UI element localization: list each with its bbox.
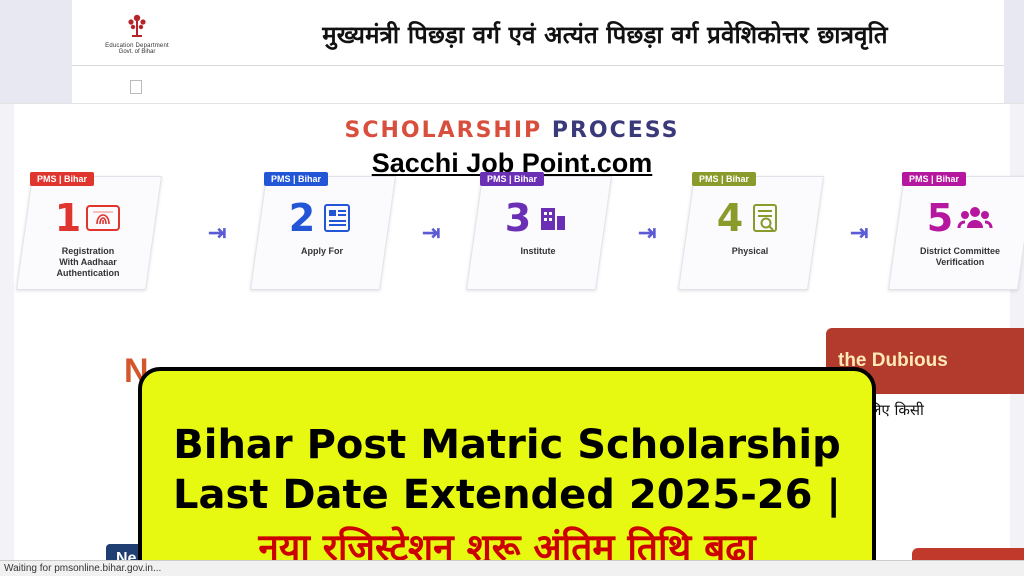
form-icon [319, 200, 355, 236]
process-step-1[interactable]: PMS | Bihar 1 RegistrationWith Aad [24, 176, 152, 294]
step-badge: PMS | Bihar [264, 172, 328, 186]
step-label: District CommitteeVerification [916, 246, 1004, 268]
step-number: 2 [289, 199, 315, 237]
process-title-part1: SCHOLARSHIP [345, 118, 543, 143]
process-step-4[interactable]: PMS | Bihar 4 Physical [686, 176, 814, 294]
subbar-right-band [1004, 66, 1024, 103]
secondary-bar [0, 66, 1024, 104]
scholarship-process-title: SCHOLARSHIP PROCESS [0, 118, 1024, 143]
step-badge: PMS | Bihar [30, 172, 94, 186]
broken-image-icon [130, 80, 142, 94]
step-arrow-1: ⇥ [208, 220, 226, 246]
overlay-line-2: Last Date Extended 2025-26 | [173, 470, 841, 520]
fingerprint-icon [85, 200, 121, 236]
process-step-5[interactable]: PMS | Bihar 5 Distr [896, 176, 1024, 294]
step-label: Physical [728, 246, 773, 257]
page-content: SCHOLARSHIP PROCESS Sacchi Job Point.com… [0, 104, 1024, 576]
step-badge: PMS | Bihar [480, 172, 544, 186]
document-search-icon [747, 200, 783, 236]
browser-status-bar: Waiting for pmsonline.bihar.gov.in... [0, 560, 1024, 576]
site-header: Education Department Govt. of Bihar मुख्… [0, 0, 1024, 66]
page-title: मुख्यमंत्री पिछड़ा वर्ग एवं अत्यंत पिछड़… [210, 18, 1000, 51]
step-label: Apply For [297, 246, 347, 257]
institute-icon [535, 200, 571, 236]
step-number: 4 [717, 199, 743, 237]
process-title-part2: PROCESS [552, 118, 680, 143]
committee-icon [957, 200, 993, 236]
logo-line2: Govt. of Bihar [119, 49, 156, 55]
headline-overlay: Bihar Post Matric Scholarship Last Date … [138, 367, 876, 576]
step-label: Institute [517, 246, 560, 257]
bihar-emblem-icon [122, 11, 152, 41]
header-right-band [1004, 0, 1024, 66]
step-arrow-3: ⇥ [638, 220, 656, 246]
step-number: 1 [55, 199, 81, 237]
header-left-band [0, 0, 72, 66]
step-badge: PMS | Bihar [902, 172, 966, 186]
step-arrow-2: ⇥ [422, 220, 440, 246]
step-label: RegistrationWith AadhaarAuthentication [53, 246, 124, 279]
bihar-education-logo[interactable]: Education Department Govt. of Bihar [72, 2, 202, 64]
process-step-2[interactable]: PMS | Bihar 2 Apply [258, 176, 386, 294]
step-number: 3 [505, 199, 531, 237]
process-steps: PMS | Bihar 1 RegistrationWith Aad [18, 176, 1008, 298]
process-step-3[interactable]: PMS | Bihar 3 Insti [474, 176, 602, 294]
step-arrow-4: ⇥ [850, 220, 868, 246]
subbar-left-band [0, 66, 72, 103]
overlay-line-1: Bihar Post Matric Scholarship [173, 420, 841, 470]
step-number: 5 [927, 199, 953, 237]
step-badge: PMS | Bihar [692, 172, 756, 186]
